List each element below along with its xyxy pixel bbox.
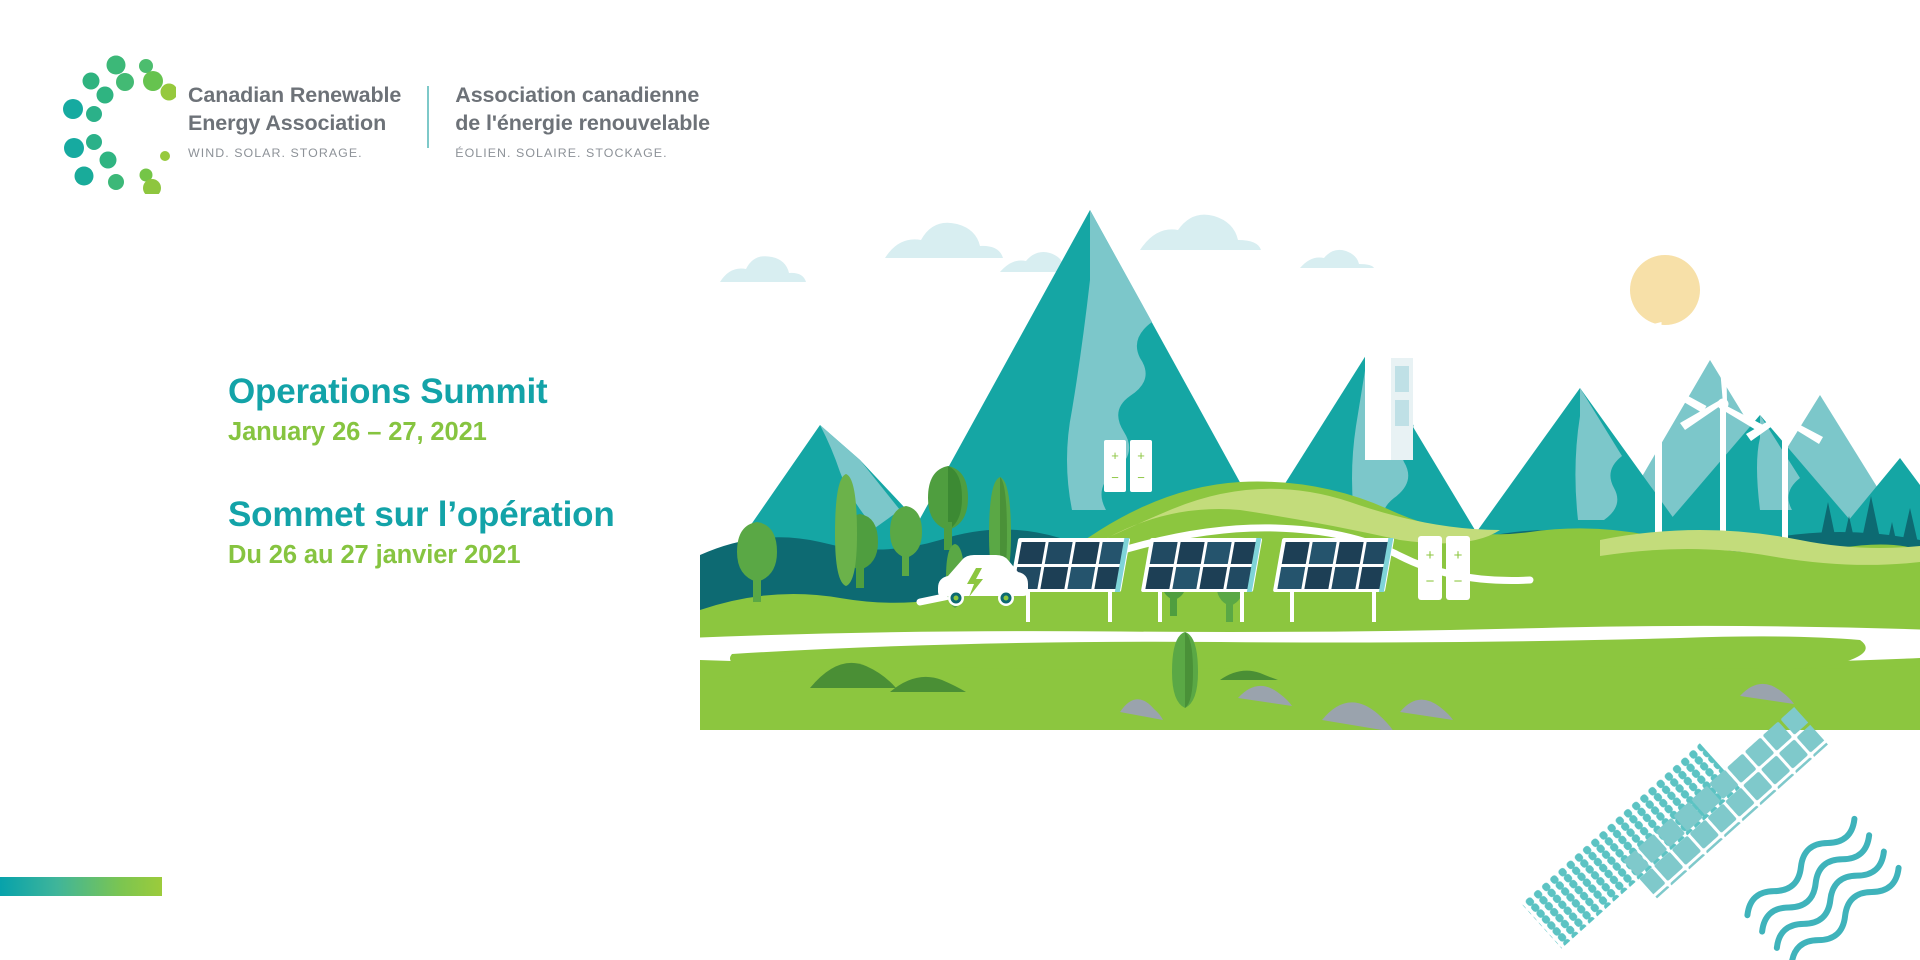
svg-text:−: − [1111,470,1119,485]
logo-french-block: Association canadienne de l'énergie reno… [429,82,710,159]
event-dates-en: January 26 – 27, 2021 [228,417,615,447]
crea-dots-c-logo-icon [50,48,176,194]
logo-wordmark: Canadian Renewable Energy Association WI… [188,82,710,159]
svg-text:−: − [1137,470,1145,485]
bottom-right-pattern [1480,660,1920,960]
svg-text:+: + [1137,448,1145,463]
battery-unit: + − [1130,440,1152,492]
svg-text:+: + [1454,547,1463,564]
battery-unit: + − [1446,536,1470,600]
event-dates-fr: Du 26 au 27 janvier 2021 [228,540,615,570]
clouds [720,215,1374,282]
battery-unit: + − [1418,536,1442,600]
gradient-accent-bar [0,877,162,896]
event-titles: Operations Summit January 26 – 27, 2021 … [228,372,615,571]
event-french-group: Sommet sur l’opération Du 26 au 27 janvi… [228,495,615,570]
battery-unit: + − [1104,440,1126,492]
buildings [1365,340,1413,460]
event-english-group: Operations Summit January 26 – 27, 2021 [228,372,615,447]
logo-fr-name-line1: Association canadienne [455,82,710,109]
brand-logo[interactable]: Canadian Renewable Energy Association WI… [50,48,710,194]
logo-fr-tagline: ÉOLIEN. SOLAIRE. STOCKAGE. [455,146,710,160]
logo-en-tagline: WIND. SOLAR. STORAGE. [188,146,401,160]
sun-icon [1630,255,1700,325]
wavy-line-band [1742,813,1904,960]
logo-english-block: Canadian Renewable Energy Association WI… [188,82,427,159]
event-title-en: Operations Summit [228,372,615,411]
svg-text:+: + [1111,448,1119,463]
logo-en-name-line2: Energy Association [188,110,401,137]
svg-text:−: − [1426,573,1435,590]
logo-fr-name-line2: de l'énergie renouvelable [455,110,710,137]
renewable-energy-landscape-illustration: + − + − [700,210,1920,730]
svg-text:+: + [1426,547,1435,564]
svg-text:−: − [1454,573,1463,590]
logo-en-name-line1: Canadian Renewable [188,82,401,109]
slide-canvas: Canadian Renewable Energy Association WI… [0,0,1920,960]
event-title-fr: Sommet sur l’opération [228,495,615,534]
